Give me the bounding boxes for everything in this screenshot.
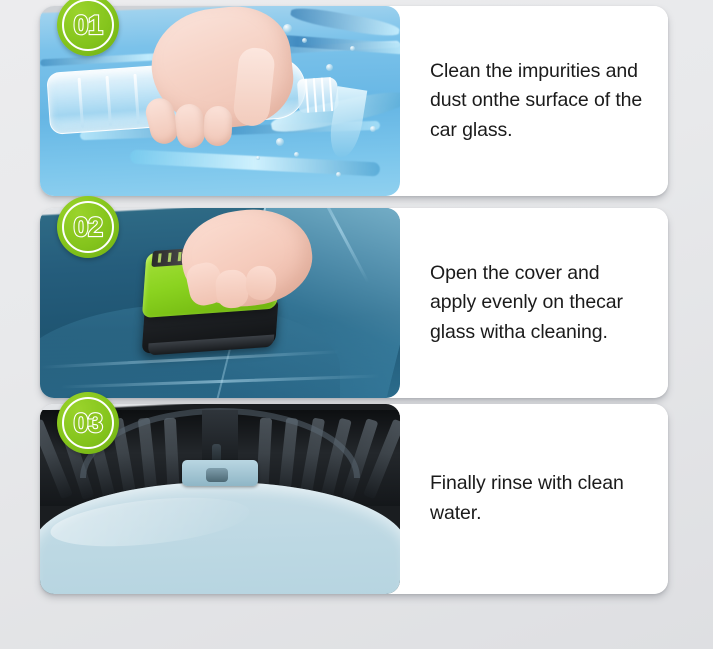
step-description: Clean the impurities and dust onthe surf… bbox=[430, 57, 650, 146]
step-number-badge: 02 bbox=[57, 196, 119, 258]
step-card: Clean the impurities and dust onthe surf… bbox=[40, 6, 668, 196]
finger bbox=[203, 106, 232, 147]
step-text-panel: Clean the impurities and dust onthe surf… bbox=[400, 6, 668, 196]
water-droplet bbox=[294, 152, 299, 157]
water-droplet bbox=[256, 156, 260, 160]
step-card: Open the cover and apply evenly on theca… bbox=[40, 208, 668, 398]
mirror-cap bbox=[206, 468, 228, 482]
water-droplet bbox=[370, 126, 376, 132]
bottle-neck bbox=[297, 77, 339, 114]
step-number-label: 03 bbox=[73, 410, 102, 437]
water-droplet bbox=[336, 172, 341, 177]
step-description: Finally rinse with clean water. bbox=[430, 469, 650, 528]
water-droplet bbox=[276, 138, 284, 146]
instruction-steps-container: Clean the impurities and dust onthe surf… bbox=[0, 0, 713, 649]
water-droplet bbox=[350, 46, 355, 51]
water-droplet bbox=[302, 38, 307, 43]
step-text-panel: Finally rinse with clean water. bbox=[400, 404, 668, 594]
step-text-panel: Open the cover and apply evenly on theca… bbox=[400, 208, 668, 398]
step-description: Open the cover and apply evenly on theca… bbox=[430, 259, 650, 348]
step-number-badge: 03 bbox=[57, 392, 119, 454]
water-stream bbox=[289, 6, 400, 39]
step-number-label: 01 bbox=[73, 12, 102, 39]
water-droplet bbox=[326, 64, 333, 71]
step-card: Finally rinse with clean water. 03 bbox=[40, 404, 668, 594]
finger bbox=[215, 269, 250, 309]
step-number-label: 02 bbox=[73, 214, 102, 241]
